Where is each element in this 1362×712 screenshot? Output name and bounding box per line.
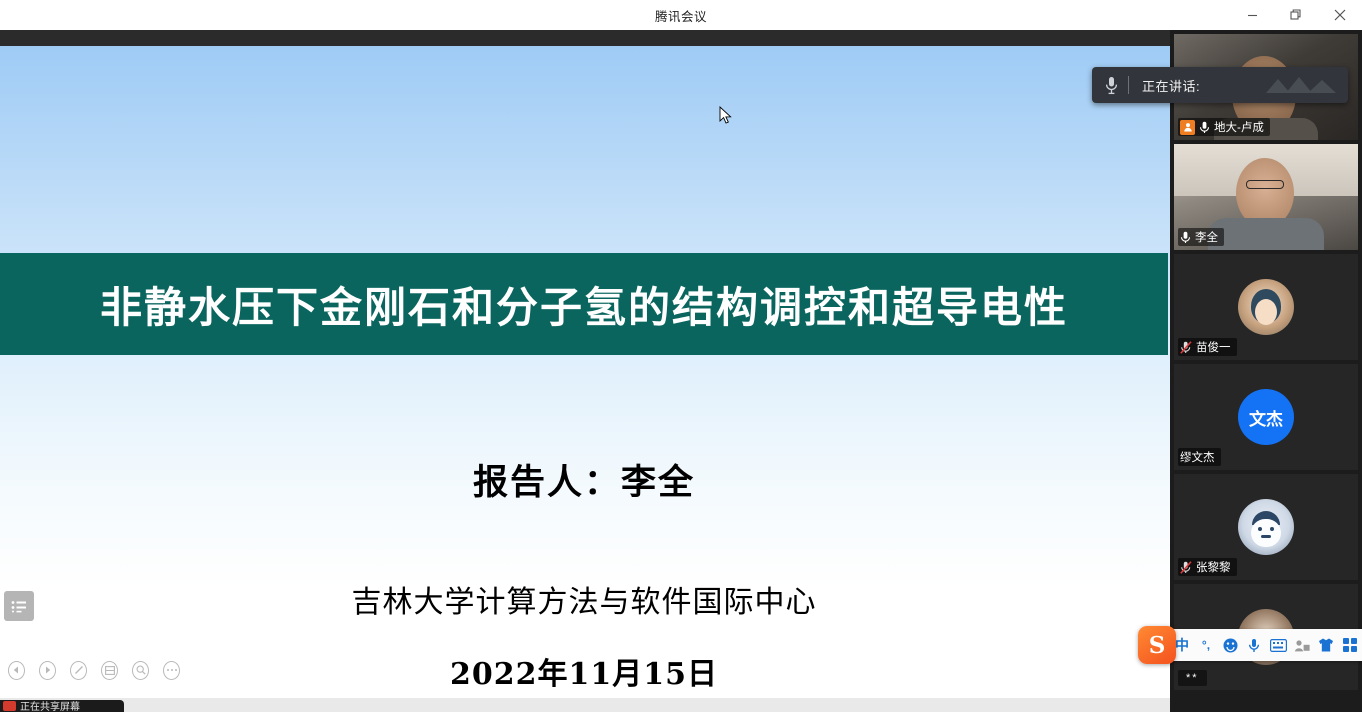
ime-punctuation-mode[interactable]: °, <box>1194 638 1218 652</box>
sharing-label: 正在共享屏幕 <box>20 698 80 712</box>
participant-name-badge: 张黎黎 <box>1178 558 1237 576</box>
grid-slides-icon <box>105 666 115 675</box>
participant-tile[interactable]: 张黎黎 <box>1174 474 1358 580</box>
microphone-muted-icon <box>1180 341 1192 354</box>
participant-tile[interactable]: 李全 <box>1174 144 1358 250</box>
participant-rail[interactable]: 地大-卢成 李全 <box>1170 30 1362 712</box>
avatar-initials: 文杰 <box>1249 405 1283 430</box>
chevron-right-icon <box>44 666 51 674</box>
speaking-waveform-icon <box>1266 75 1336 95</box>
tencent-meeting-window: 腾讯会议 非静水压下金刚石和分子氢的结构调控和超导电性 报告人：李全 吉林大学计… <box>0 0 1362 712</box>
speaking-toast: 正在讲话: <box>1092 67 1348 103</box>
slide-speaker: 报告人：李全 <box>0 454 1168 505</box>
ime-emoji-icon[interactable] <box>1218 638 1242 653</box>
sharing-indicator[interactable]: 正在共享屏幕 <box>0 700 124 712</box>
microphone-on-icon <box>1180 231 1191 244</box>
participant-name-badge: 李全 <box>1178 228 1224 246</box>
slide-title: 非静水压下金刚石和分子氢的结构调控和超导电性 <box>100 274 1068 335</box>
pen-tool-button[interactable] <box>70 661 87 680</box>
next-slide-button[interactable] <box>39 661 56 680</box>
slide-outline-icon <box>11 600 27 613</box>
participant-avatar <box>1238 499 1294 555</box>
participant-name: ** <box>1178 670 1207 686</box>
participant-name-badge: 地大-卢成 <box>1178 118 1270 136</box>
zoom-in-button[interactable] <box>132 661 149 680</box>
participant-avatar <box>1238 279 1294 335</box>
sogou-logo-icon[interactable]: S <box>1138 626 1176 664</box>
toast-divider <box>1128 76 1129 94</box>
pen-icon <box>74 665 84 675</box>
slide-outline-button[interactable] <box>4 591 34 621</box>
host-badge-icon <box>1180 120 1195 135</box>
participant-name: 缪文杰 <box>1180 449 1215 465</box>
microphone-on-icon <box>1199 121 1210 134</box>
presenter-toolbar <box>0 656 180 684</box>
shared-screen-area[interactable]: 非静水压下金刚石和分子氢的结构调控和超导电性 报告人：李全 吉林大学计算方法与软… <box>0 30 1170 712</box>
maximize-restore-button[interactable] <box>1274 0 1318 30</box>
participant-name-badge: 缪文杰 <box>1178 448 1221 466</box>
slide-title-band: 非静水压下金刚石和分子氢的结构调控和超导电性 <box>0 253 1168 355</box>
windows-taskbar[interactable]: 正在共享屏幕 <box>0 698 1170 712</box>
ime-voice-input-icon[interactable] <box>1242 638 1266 653</box>
participant-tile[interactable]: 苗俊一 <box>1174 254 1358 360</box>
sogou-ime-toolbar[interactable]: S 中 °, <box>1170 629 1362 661</box>
close-button[interactable] <box>1318 0 1362 30</box>
participant-tile[interactable]: 文杰 缪文杰 <box>1174 364 1358 470</box>
ime-user-card-icon[interactable] <box>1290 639 1314 652</box>
all-slides-button[interactable] <box>101 661 118 680</box>
chevron-left-icon <box>13 666 20 674</box>
window-title: 腾讯会议 <box>655 6 707 25</box>
minimize-button[interactable] <box>1230 0 1274 30</box>
participant-name-badge: 苗俊一 <box>1178 338 1237 356</box>
participant-avatar-initials: 文杰 <box>1238 389 1294 445</box>
toast-text: 正在讲话: <box>1142 76 1200 95</box>
shared-screen-top-strip <box>0 30 1170 46</box>
window-controls <box>1230 0 1362 30</box>
participant-name: 张黎黎 <box>1196 559 1231 575</box>
microphone-icon <box>1104 76 1119 95</box>
more-options-button[interactable] <box>163 661 180 680</box>
ime-soft-keyboard-icon[interactable] <box>1266 639 1290 652</box>
ellipsis-icon <box>166 668 178 672</box>
participant-name: 地大-卢成 <box>1214 119 1264 135</box>
sharing-chip-icon <box>3 701 16 711</box>
magnifier-icon <box>136 665 146 675</box>
previous-slide-button[interactable] <box>8 661 25 680</box>
microphone-muted-icon <box>1180 561 1192 574</box>
mouse-cursor <box>719 106 733 126</box>
ime-toolbox-icon[interactable] <box>1338 638 1362 652</box>
participant-name: 苗俊一 <box>1196 339 1231 355</box>
participant-name: 李全 <box>1195 229 1218 245</box>
presentation-slide: 非静水压下金刚石和分子氢的结构调控和超导电性 报告人：李全 吉林大学计算方法与软… <box>0 46 1170 706</box>
title-bar: 腾讯会议 <box>0 0 1362 30</box>
slide-body: 报告人：李全 吉林大学计算方法与软件国际中心 2022年11月15日 <box>0 376 1168 693</box>
slide-affiliation: 吉林大学计算方法与软件国际中心 <box>0 577 1168 621</box>
ime-skin-icon[interactable] <box>1314 638 1338 652</box>
